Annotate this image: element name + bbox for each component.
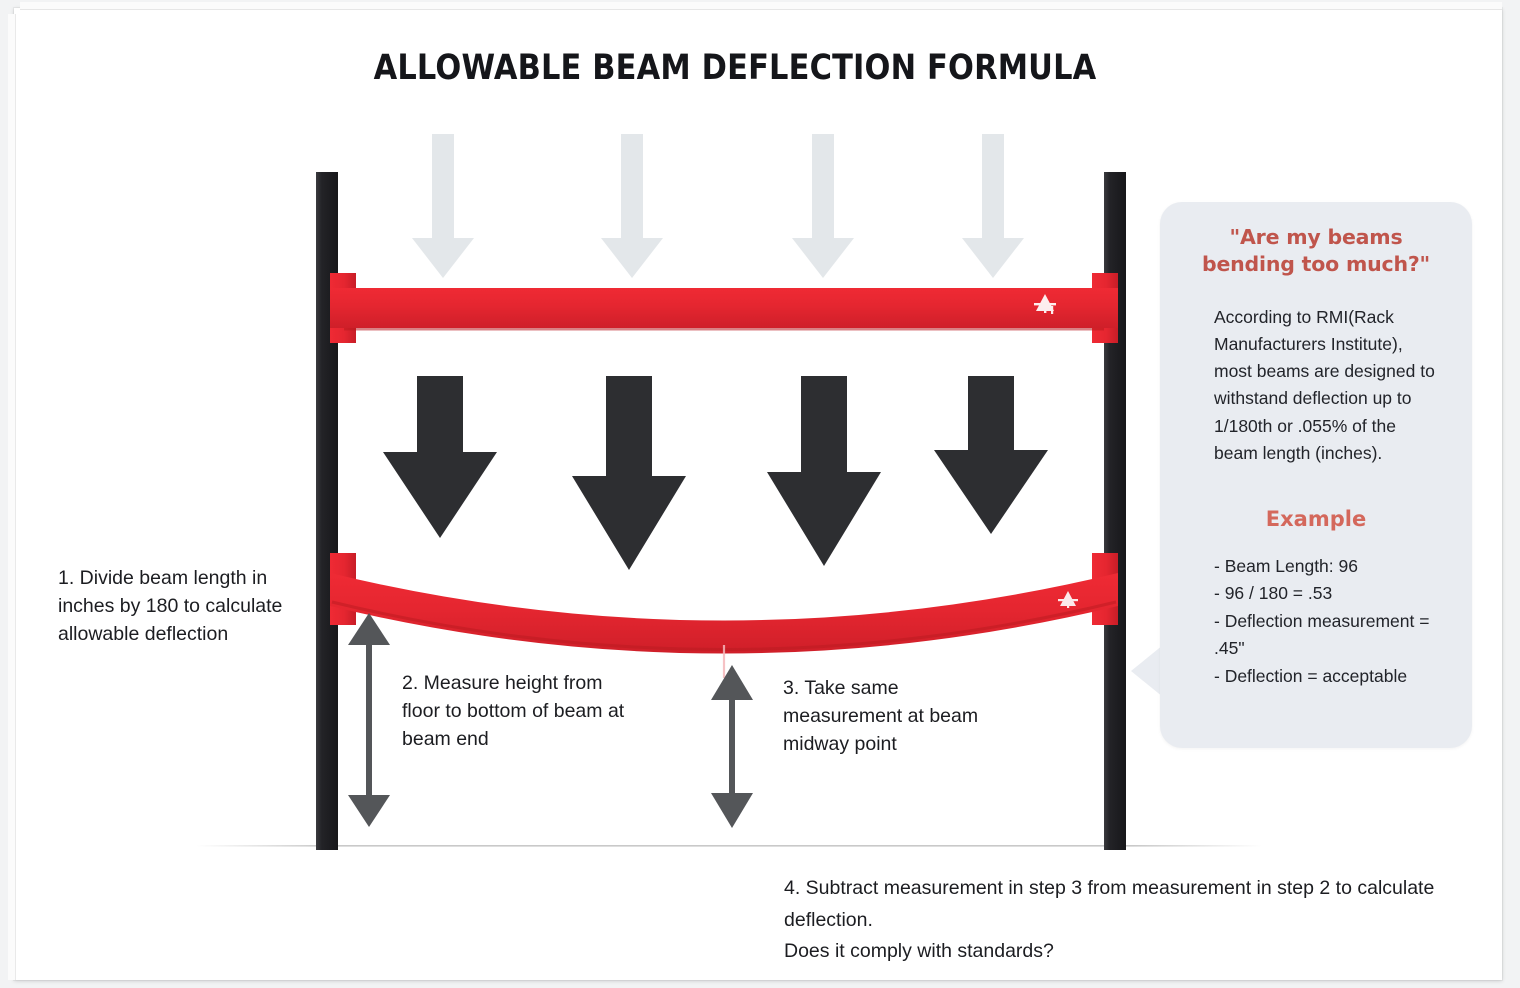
example-heading: Example — [1184, 507, 1448, 531]
load-arrow — [767, 376, 881, 566]
list-item: - Deflection measurement = .45" — [1214, 608, 1448, 663]
load-arrow — [572, 376, 686, 570]
ghost-load-arrow — [412, 134, 474, 278]
list-item: - Beam Length: 96 — [1214, 553, 1448, 580]
undeflected-beam — [330, 273, 1118, 343]
load-arrow — [934, 376, 1048, 534]
ghost-load-arrow — [962, 134, 1024, 278]
measurement-at-beam-end — [348, 613, 390, 827]
floor-line — [196, 845, 1262, 847]
beam-body — [330, 573, 1118, 654]
list-item: - 96 / 180 = .53 — [1214, 580, 1448, 607]
example-list: - Beam Length: 96 - 96 / 180 = .53 - Def… — [1184, 553, 1448, 690]
ghost-load-arrow-group — [412, 134, 1024, 278]
load-arrow — [383, 376, 497, 538]
beam-body — [330, 288, 1118, 328]
page-background: ALLOWABLE BEAM DEFLECTION FORMULA — [0, 0, 1520, 988]
ghost-load-arrow — [792, 134, 854, 278]
step-1-text: 1. Divide beam length in inches by 180 t… — [58, 565, 298, 649]
callout-heading: "Are my beams bending too much?" — [1184, 224, 1448, 278]
deflected-beam — [330, 553, 1118, 678]
measurement-at-beam-midway — [711, 665, 753, 828]
step-4-text: 4. Subtract measurement in step 3 from m… — [784, 873, 1514, 968]
ghost-load-arrow — [601, 134, 663, 278]
load-arrow-group — [383, 376, 1048, 570]
list-item: - Deflection = acceptable — [1214, 663, 1448, 690]
step-2-text: 2. Measure height from floor to bottom o… — [402, 670, 642, 754]
callout-body: According to RMI(Rack Manufacturers Inst… — [1184, 304, 1448, 467]
step-3-text: 3. Take same measurement at beam midway … — [783, 675, 1013, 759]
callout-panel: "Are my beams bending too much?" Accordi… — [1160, 202, 1472, 748]
